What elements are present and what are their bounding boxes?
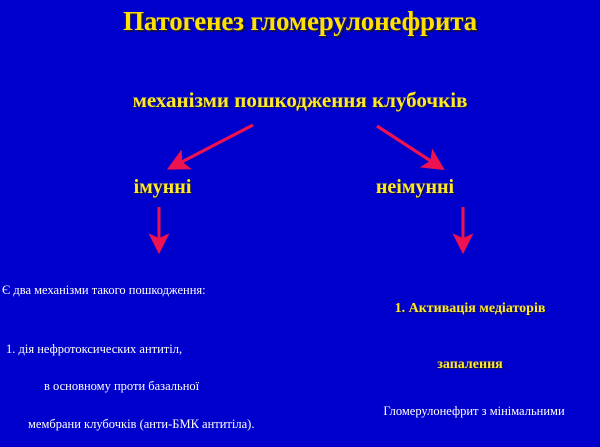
branch-label-nonimmune: неімунні [340,176,490,199]
arrow-to-immune-icon [160,122,260,178]
arrow-nonimmune-detail-icon [452,205,476,257]
immune-item1-line3: мембрани клубочків (анти-БМК антитіла). [2,418,302,431]
branch-label-immune: імунні [90,176,235,199]
nonimmune-item1-line1: 1. Активація медіаторів [358,300,582,319]
arrow-to-nonimmune-icon [370,122,470,178]
immune-item1-line2: в основному проти базальної [2,380,302,393]
nonimmune-note-block: Гломерулонефрит з мінімальними змінами і… [358,366,590,447]
immune-item1-line1: 1. дія нефротоксических антитіл, [2,343,302,356]
mechanisms-heading: механізми пошкодження клубочків [0,88,600,113]
immune-lead-text: Є два механізми такого пошкодження: [2,284,302,297]
nonimmune-note-line1: Гломерулонефрит з мінімальними [358,402,590,420]
arrow-immune-detail-icon [148,205,172,257]
slide-canvas: Патогенез гломерулонефрита механізми пош… [0,0,600,447]
slide-title: Патогенез гломерулонефрита [0,6,600,37]
immune-detail-block: Є два механізми такого пошкодження: 1. д… [2,259,302,447]
